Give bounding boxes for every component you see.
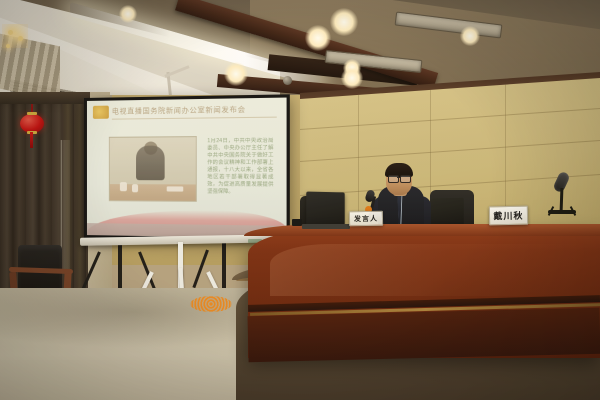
- slide-photo-cup: [120, 182, 127, 191]
- panel-seam: [300, 140, 600, 162]
- downlight-icon: [119, 5, 137, 23]
- downlight-icon: [460, 26, 480, 46]
- nameplate-left: 发言人: [349, 211, 383, 227]
- speaker-stand-post: [222, 238, 226, 290]
- desk-device-box: [292, 219, 302, 226]
- downlight-icon: [305, 25, 331, 51]
- laptop-screen[interactable]: [306, 192, 344, 227]
- slide-photo-cup: [132, 184, 138, 192]
- slide-photo-person-body: [136, 146, 165, 181]
- panel-seam: [300, 108, 600, 130]
- laptop-screen[interactable]: [431, 198, 464, 227]
- slide-photo-document: [167, 186, 184, 191]
- slide-body-text: 1月24日，中共中央政治局委员、中央办公厅主任了解中共中央国务院关于做好工作的会…: [207, 138, 273, 197]
- eyeglasses-bridge: [397, 177, 400, 178]
- slide-photo: [109, 136, 197, 202]
- powerpoint-slide: 电视直播国务院新闻办公室新闻发布会 1月24日，中共中央政治局委员、中央办公厅主…: [87, 98, 287, 239]
- dome-camera-icon: [283, 76, 292, 85]
- nameplate-right: 戴川秋: [489, 206, 528, 226]
- projection-screen: 电视直播国务院新闻办公室新闻发布会 1月24日，中共中央政治局委员、中央办公厅主…: [84, 94, 290, 241]
- podium-lower-panel: [247, 308, 600, 363]
- downlight-icon: [224, 62, 248, 86]
- sconce-bulb: [6, 44, 10, 48]
- sconce-bulb: [18, 36, 23, 41]
- sconce-bulb: [8, 30, 13, 35]
- national-emblem-icon: [93, 106, 109, 119]
- lantern-tassel: [30, 132, 33, 148]
- downlight-icon: [341, 67, 363, 89]
- curtain-valance: [0, 92, 90, 104]
- lantern-cap: [27, 112, 37, 115]
- orange-cable-coil: [190, 296, 232, 312]
- conference-room-photo: 电视直播国务院新闻办公室新闻发布会 1月24日，中共中央政治局委员、中央办公厅主…: [0, 0, 600, 400]
- downlight-icon: [330, 8, 358, 36]
- podium-desk-highlight: [270, 244, 590, 296]
- laptop-base: [302, 224, 350, 229]
- eyeglasses-icon: [400, 175, 411, 183]
- slide-title: 电视直播国务院新闻办公室新闻发布会: [112, 104, 268, 118]
